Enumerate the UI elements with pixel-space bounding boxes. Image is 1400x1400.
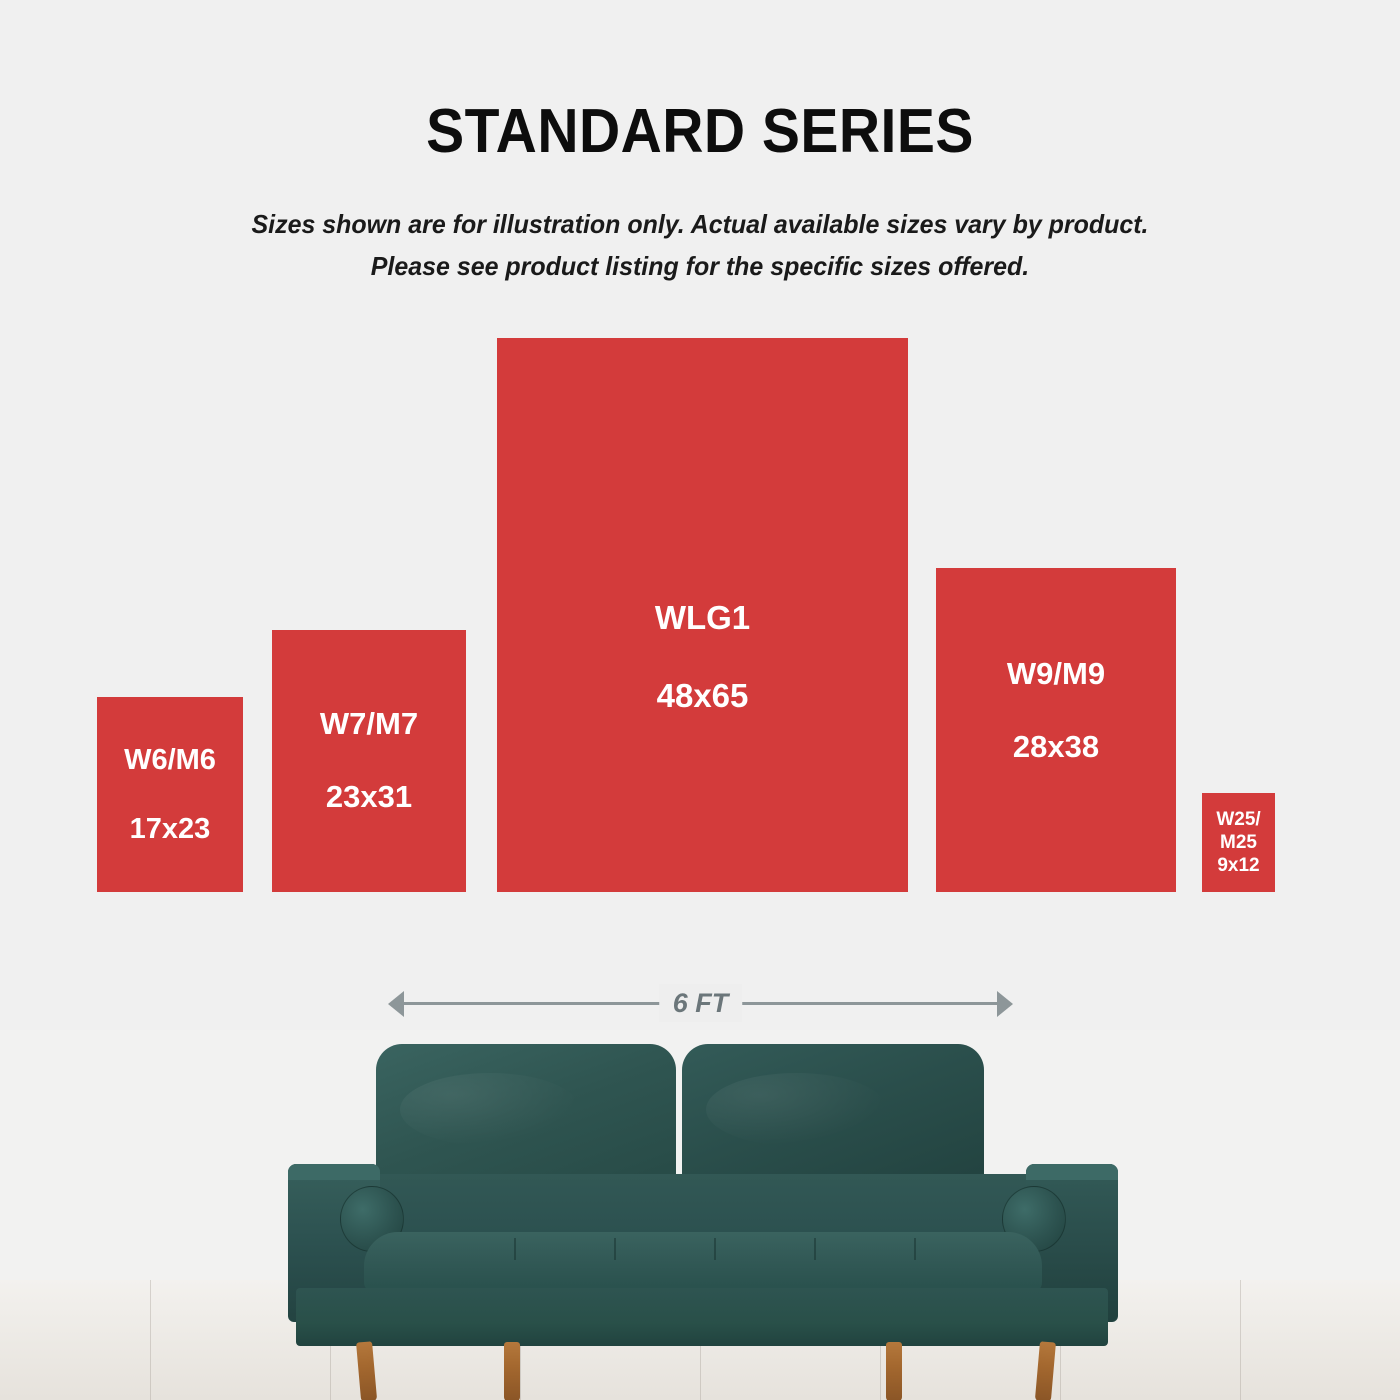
page-subtitle: Sizes shown are for illustration only. A… xyxy=(28,203,1372,287)
sofa-leg-back-left xyxy=(504,1342,520,1400)
sofa-photo xyxy=(0,1030,1400,1400)
arrow-right-icon xyxy=(997,991,1013,1017)
arrow-left-icon xyxy=(388,991,404,1017)
sofa-arm-right-top xyxy=(1026,1164,1118,1180)
frame-size-text-wlg1: 48x65 xyxy=(655,677,750,716)
dimension-arrow-6ft: 6 FT xyxy=(388,986,1013,1022)
seat-cushion xyxy=(364,1232,1042,1294)
frame-size-w7-m7[interactable]: W7/M7 23x31 xyxy=(272,630,466,892)
subtitle-line-2: Please see product listing for the speci… xyxy=(28,245,1372,287)
dimension-label: 6 FT xyxy=(659,984,743,1022)
frame-label-w9-m9: W9/M9 28x38 xyxy=(1007,620,1105,841)
frame-code-w7-m7: W7/M7 xyxy=(320,706,418,743)
subtitle-line-1: Sizes shown are for illustration only. A… xyxy=(28,203,1372,245)
frame-code-wlg1: WLG1 xyxy=(655,599,750,638)
frame-size-text-w9-m9: 28x38 xyxy=(1007,729,1105,766)
frame-code-w6-m6: W6/M6 xyxy=(124,743,216,777)
frame-label-w7-m7: W7/M7 23x31 xyxy=(320,670,418,853)
frame-size-w25-m25[interactable]: W25/ M25 9x12 xyxy=(1202,793,1275,892)
frame-code-w9-m9: W9/M9 xyxy=(1007,656,1105,693)
green-velvet-sofa xyxy=(288,1036,1118,1336)
sofa-leg-back-right xyxy=(886,1342,902,1400)
sofa-base xyxy=(296,1288,1108,1346)
sofa-arm-left-top xyxy=(288,1164,380,1180)
frame-size-w6-m6[interactable]: W6/M6 17x23 xyxy=(97,697,243,892)
frame-label-wlg1: WLG1 48x65 xyxy=(655,338,750,755)
frame-size-wlg1[interactable]: WLG1 48x65 xyxy=(497,338,908,892)
frame-size-text-w6-m6: 17x23 xyxy=(124,812,216,846)
frame-label-w6-m6: W6/M6 17x23 xyxy=(124,709,216,880)
frame-label-w25-m25: W25/ M25 9x12 xyxy=(1216,808,1260,878)
size-chart-canvas: STANDARD SERIES Sizes shown are for illu… xyxy=(0,0,1400,1400)
page-title: STANDARD SERIES xyxy=(56,96,1344,167)
frame-size-w9-m9[interactable]: W9/M9 28x38 xyxy=(936,568,1176,892)
frame-size-text-w7-m7: 23x31 xyxy=(320,779,418,816)
